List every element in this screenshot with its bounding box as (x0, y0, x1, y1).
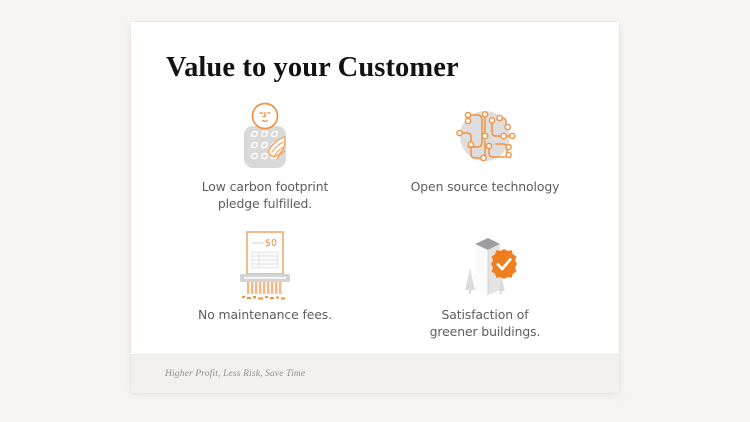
footer-tagline: Higher Profit, Less Risk, Save Time (165, 369, 305, 379)
person-leaf-icon (228, 100, 302, 172)
slide-content-area: Value to your Customer (131, 22, 619, 355)
circuit-board-icon (448, 100, 522, 172)
invoice-shredder-icon: $0 (228, 228, 302, 300)
certified-building-icon (448, 228, 522, 300)
benefit-item-no-fees: $0 (155, 228, 375, 356)
slide-footer: Higher Profit, Less Risk, Save Time (131, 354, 619, 393)
benefit-caption-line1: Open source technology (411, 179, 560, 194)
benefit-caption: Satisfaction of greener buildings. (430, 306, 541, 340)
benefit-item-satisfaction: Satisfaction of greener buildings. (375, 228, 595, 356)
invoice-amount: $0 (265, 238, 277, 249)
benefit-caption-line2: pledge fulfilled. (218, 196, 312, 211)
page-title: Value to your Customer (166, 52, 459, 84)
slide-card: Value to your Customer (131, 22, 619, 393)
benefit-caption-line1: Satisfaction of (441, 307, 528, 322)
benefit-item-low-carbon: Low carbon footprint pledge fulfilled. (155, 100, 375, 228)
benefit-caption-line1: Low carbon footprint (202, 179, 329, 194)
benefit-caption-line2: greener buildings. (430, 324, 541, 339)
benefit-caption: Open source technology (411, 178, 560, 195)
benefit-item-open-source: Open source technology (375, 100, 595, 228)
benefit-caption: Low carbon footprint pledge fulfilled. (202, 178, 329, 212)
benefit-caption-line1: No maintenance fees. (198, 307, 332, 322)
benefit-grid: Low carbon footprint pledge fulfilled. (155, 100, 595, 356)
benefit-caption: No maintenance fees. (198, 306, 332, 323)
slide-stage: Value to your Customer (0, 0, 750, 422)
